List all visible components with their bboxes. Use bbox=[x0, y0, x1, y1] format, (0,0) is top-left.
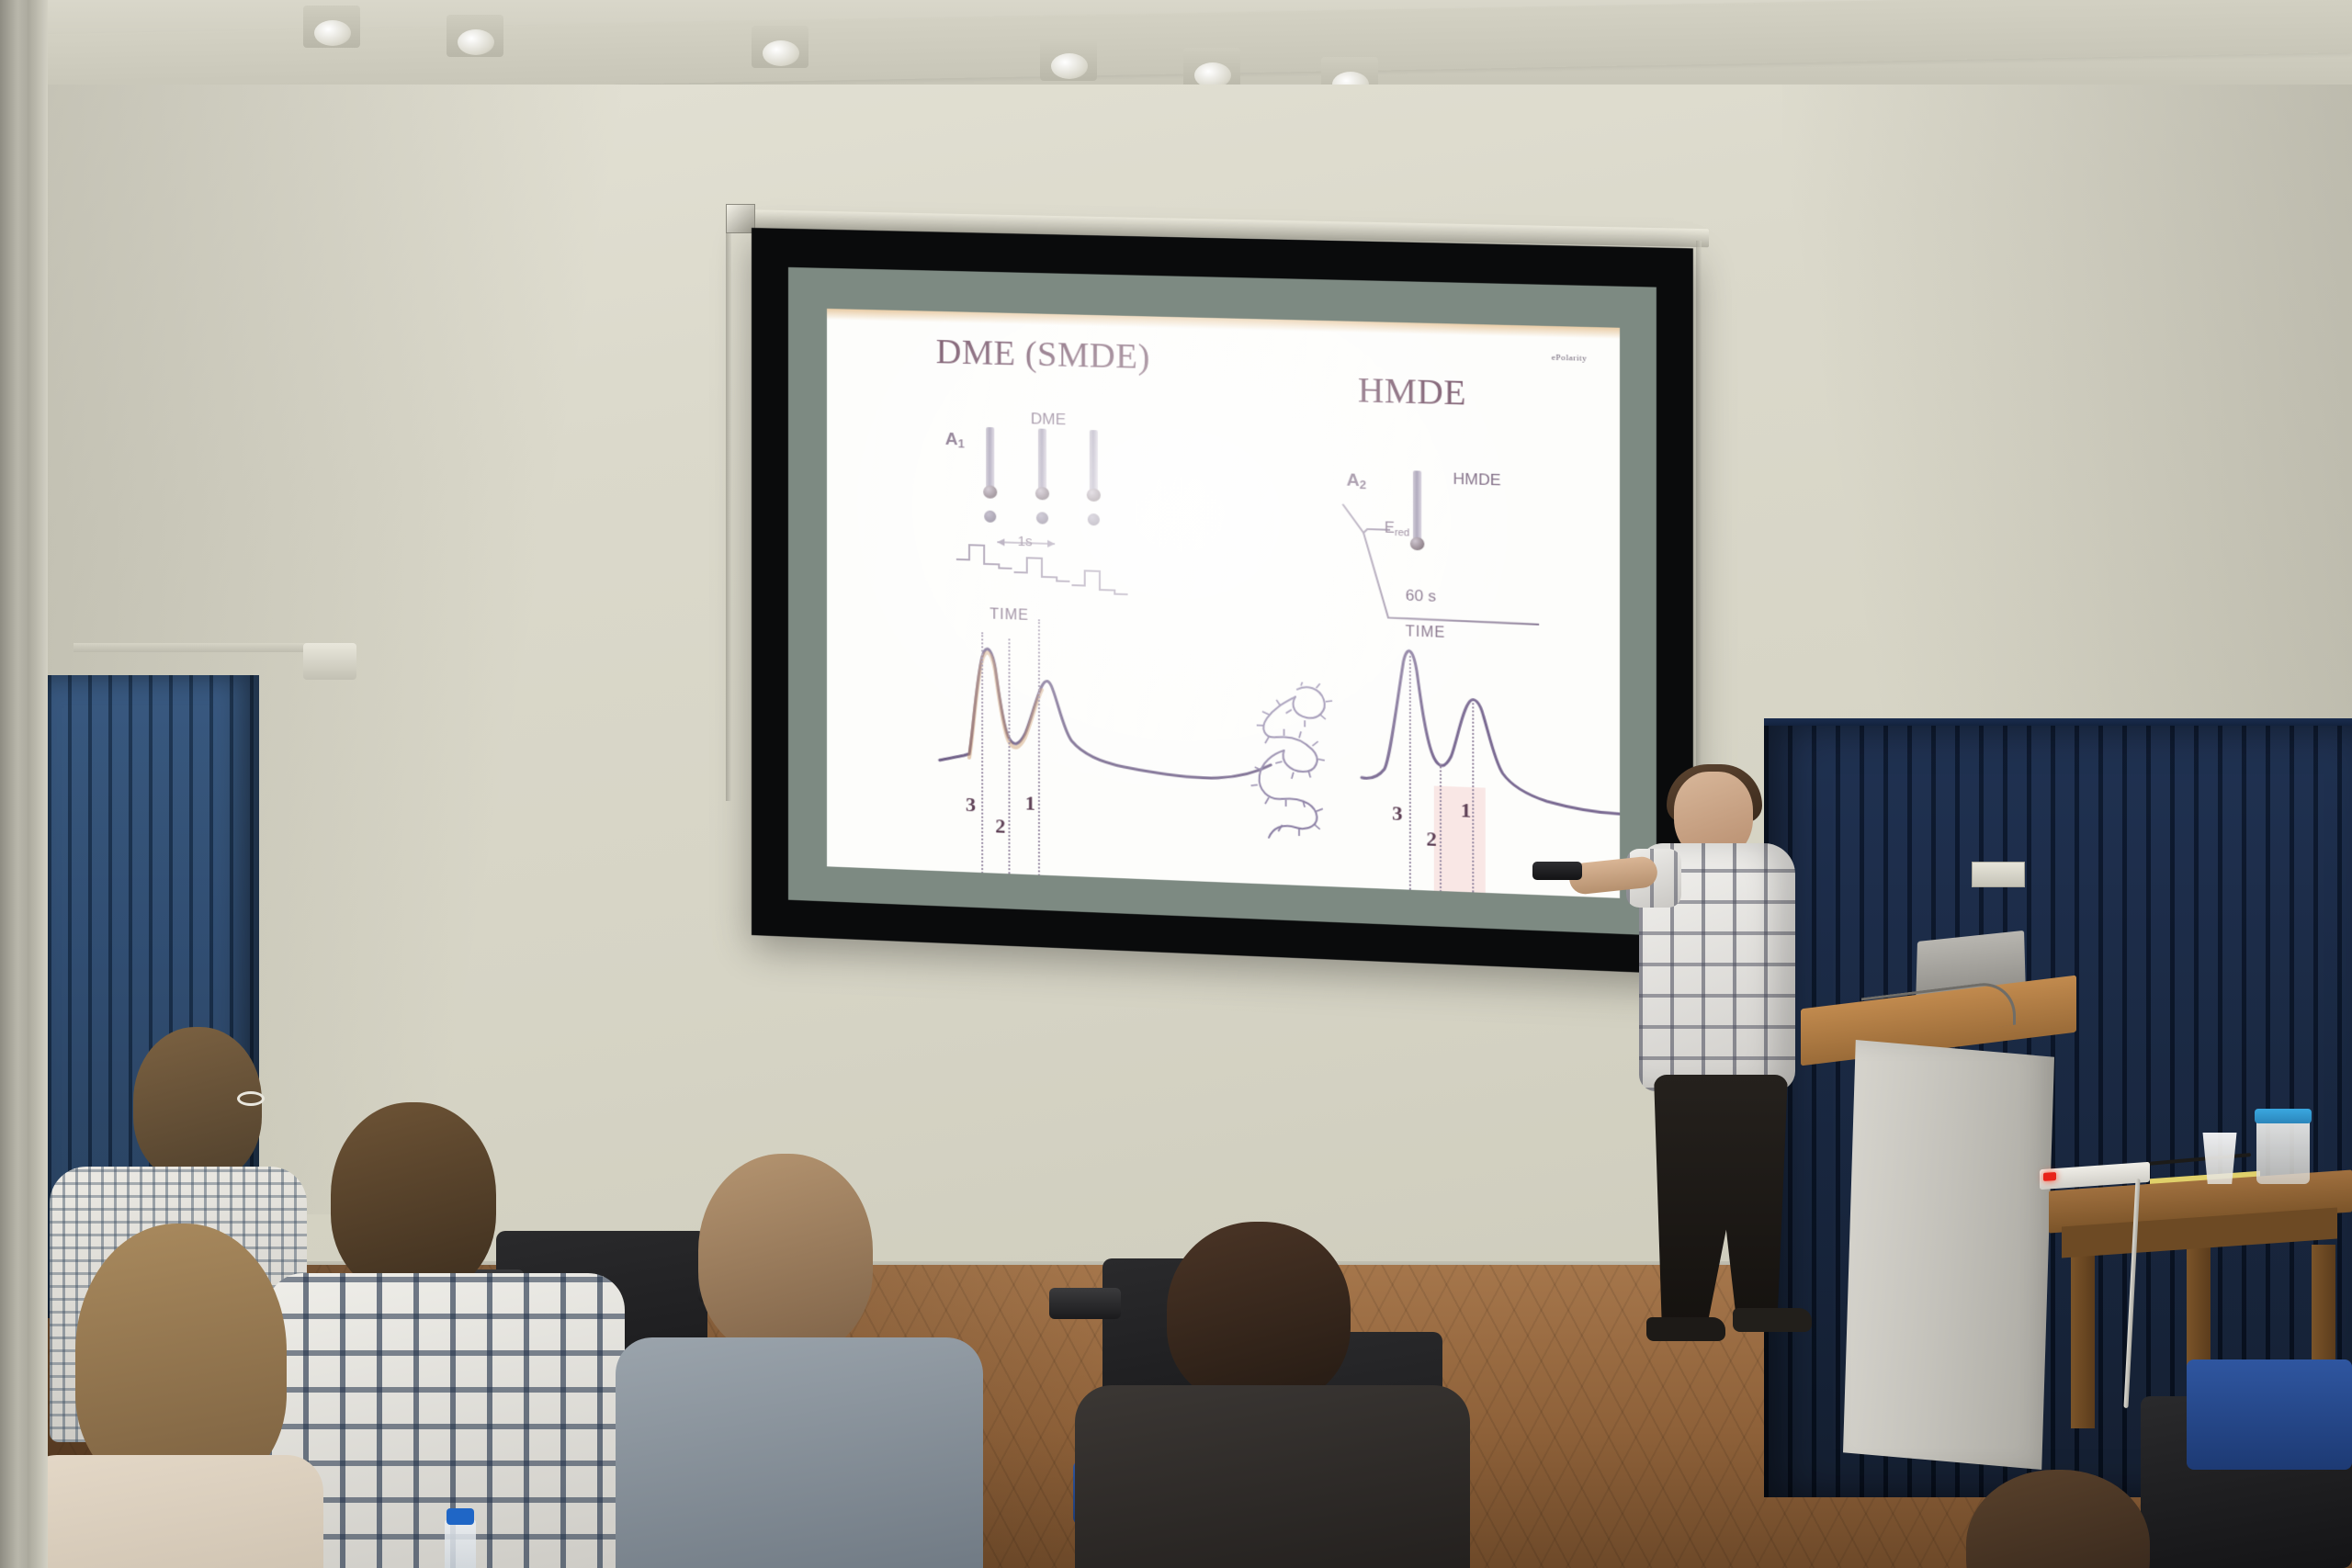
ssdna-coil-drawing-icon bbox=[1248, 681, 1371, 863]
table-leg bbox=[2071, 1245, 2095, 1428]
slide-canvas: DME (SMDE) HMDE A1 DME bbox=[827, 309, 1620, 898]
guide-line-1 bbox=[1038, 619, 1040, 898]
label-a2: A2 bbox=[1347, 470, 1367, 491]
label-dme-electrode: DME bbox=[1031, 410, 1066, 429]
peak-label-2-right: 2 bbox=[1426, 827, 1436, 852]
pitcher-lid bbox=[2255, 1109, 2312, 1123]
presenter-shoe bbox=[1646, 1317, 1725, 1341]
presenter-shoe bbox=[1733, 1308, 1812, 1332]
audience-torso bbox=[616, 1337, 983, 1568]
laser-pointer-icon[interactable] bbox=[1532, 862, 1582, 880]
slide-title-hmde: HMDE bbox=[1358, 370, 1466, 414]
peak-label-3-right: 3 bbox=[1392, 801, 1402, 826]
bottle-cap-icon bbox=[447, 1508, 474, 1525]
label-time-left: TIME bbox=[989, 606, 1029, 625]
label-e-red: Ered bbox=[1385, 520, 1409, 538]
door-frame bbox=[28, 0, 48, 1568]
pulse-waveform-icon bbox=[956, 536, 1161, 607]
guide-line-3 bbox=[981, 632, 983, 898]
label-60s: 60 s bbox=[1406, 586, 1436, 605]
guide-line-3-right bbox=[1409, 656, 1411, 898]
capillary-icon bbox=[1090, 430, 1098, 491]
ceiling-spotlight-icon bbox=[447, 15, 503, 57]
audience-member bbox=[616, 1154, 965, 1567]
audience-member bbox=[1911, 1470, 2168, 1568]
ceiling-spotlight-icon bbox=[1040, 39, 1097, 81]
peak-label-1-left: 1 bbox=[1025, 791, 1035, 816]
lecture-hall-scene: ePolarity DME (SMDE) HMDE A1 DME bbox=[0, 0, 2352, 1568]
label-a1: A1 bbox=[945, 430, 965, 451]
audience-head bbox=[1167, 1222, 1351, 1405]
wall-mounted-lamp bbox=[303, 643, 356, 680]
eyeglasses-icon bbox=[237, 1091, 265, 1106]
lectern[interactable] bbox=[1828, 992, 2076, 1470]
audience-head bbox=[1966, 1470, 2150, 1568]
peak-label-2-left: 2 bbox=[995, 814, 1005, 839]
water-pitcher bbox=[2256, 1116, 2310, 1184]
peak-label-3-left: 3 bbox=[966, 793, 976, 818]
screen-edge-left bbox=[726, 231, 731, 801]
mercury-drop-icon bbox=[1088, 513, 1100, 526]
capillary-icon bbox=[986, 427, 994, 489]
capillary-icon bbox=[1038, 429, 1046, 491]
audience-torso bbox=[20, 1455, 323, 1568]
guide-line-2-right bbox=[1440, 763, 1442, 898]
projected-slide: ePolarity DME (SMDE) HMDE A1 DME bbox=[827, 309, 1620, 898]
voltammogram-dme-upper-shadow bbox=[938, 622, 1275, 819]
potential-time-trace bbox=[1339, 499, 1558, 637]
wall-trim bbox=[73, 643, 331, 652]
audience-member bbox=[1093, 1222, 1461, 1568]
audience-member bbox=[11, 1224, 305, 1568]
power-led-indicator-icon bbox=[2043, 1172, 2056, 1181]
lectern-body bbox=[1843, 1040, 2054, 1470]
mercury-drop-icon bbox=[1036, 512, 1048, 525]
peak-label-1-right: 1 bbox=[1461, 798, 1471, 823]
audience-head bbox=[698, 1154, 873, 1356]
screen-mat: ePolarity DME (SMDE) HMDE A1 DME bbox=[788, 267, 1657, 935]
audience-hair bbox=[75, 1224, 287, 1490]
presenter-trousers bbox=[1654, 1075, 1788, 1325]
highlight-band-upper bbox=[1434, 786, 1486, 898]
voltammogram-dme-lower bbox=[934, 884, 1281, 898]
wall-socket-plate bbox=[1972, 862, 2025, 887]
label-hmde-electrode: HMDE bbox=[1453, 470, 1501, 491]
chair-back[interactable] bbox=[2187, 1359, 2352, 1470]
presenter[interactable] bbox=[1617, 772, 1828, 1359]
audience-head bbox=[331, 1102, 496, 1295]
label-time-right: TIME bbox=[1406, 624, 1446, 642]
slide-title-dme: DME (SMDE) bbox=[936, 332, 1150, 378]
label-interval-1s: 1s bbox=[1018, 534, 1033, 550]
guide-line-2 bbox=[1008, 638, 1010, 897]
ceiling-spotlight-icon bbox=[303, 6, 360, 48]
water-bottle[interactable] bbox=[445, 1519, 476, 1568]
audience-torso bbox=[1075, 1385, 1470, 1568]
ceiling-spotlight-icon bbox=[752, 26, 808, 68]
guide-line-1-right bbox=[1472, 703, 1474, 898]
mercury-drop-icon bbox=[984, 511, 996, 523]
